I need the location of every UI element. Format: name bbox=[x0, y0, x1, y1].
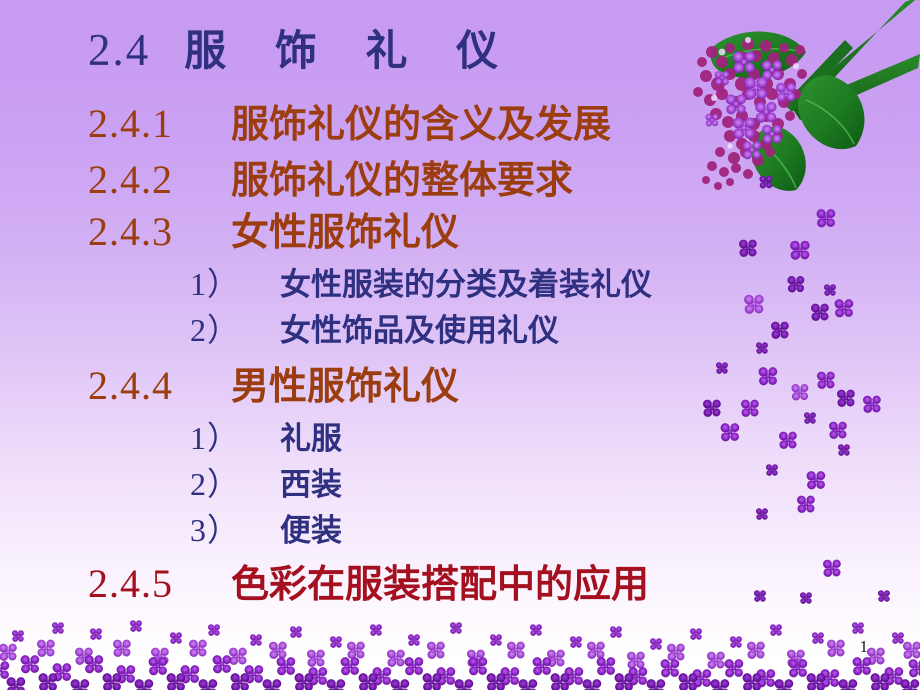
outline-label: 女性服装的分类及着装礼仪 bbox=[280, 267, 652, 303]
outline-item-2-4-4: 2.4.4男性服饰礼仪 bbox=[88, 366, 459, 406]
slide-canvas: 2.4服 饰 礼 仪 2.4.1服饰礼仪的含义及发展 2.4.2服饰礼仪的整体要… bbox=[0, 0, 920, 690]
outline-label: 服饰礼仪的整体要求 bbox=[231, 158, 573, 202]
outline-item-2-4-3: 2.4.3女性服饰礼仪 bbox=[88, 212, 459, 252]
slide-text-content: 2.4服 饰 礼 仪 2.4.1服饰礼仪的含义及发展 2.4.2服饰礼仪的整体要… bbox=[0, 0, 920, 690]
outline-item-2-4-2: 2.4.2服饰礼仪的整体要求 bbox=[88, 160, 573, 200]
outline-item-2-4-1: 2.4.1服饰礼仪的含义及发展 bbox=[88, 104, 611, 144]
outline-number: 2） bbox=[190, 312, 240, 348]
outline-subitem-2-4-3-1: 1）女性服装的分类及着装礼仪 bbox=[190, 268, 652, 301]
outline-label: 女性饰品及使用礼仪 bbox=[280, 313, 559, 349]
outline-number: 2） bbox=[190, 466, 240, 502]
outline-number: 3） bbox=[190, 512, 240, 548]
outline-number: 2.4.3 bbox=[88, 209, 173, 254]
page-number: 1 bbox=[860, 637, 869, 657]
outline-subitem-2-4-4-2: 2）西装 bbox=[190, 468, 342, 501]
outline-number: 2.4.1 bbox=[88, 101, 173, 146]
outline-label: 西装 bbox=[280, 467, 342, 503]
outline-subitem-2-4-3-2: 2）女性饰品及使用礼仪 bbox=[190, 314, 559, 347]
outline-label: 女性服饰礼仪 bbox=[231, 210, 459, 254]
outline-label: 便装 bbox=[280, 513, 342, 549]
outline-subitem-2-4-4-1: 1）礼服 bbox=[190, 422, 342, 455]
outline-label: 男性服饰礼仪 bbox=[231, 364, 459, 408]
slide-title-text: 服 饰 礼 仪 bbox=[184, 26, 515, 75]
outline-number: 2.4.2 bbox=[88, 157, 173, 202]
outline-label: 服饰礼仪的含义及发展 bbox=[231, 102, 611, 146]
slide-title: 2.4服 饰 礼 仪 bbox=[88, 28, 515, 73]
outline-item-2-4-5: 2.4.5色彩在服装搭配中的应用 bbox=[88, 564, 649, 604]
outline-subitem-2-4-4-3: 3）便装 bbox=[190, 514, 342, 547]
slide-title-number: 2.4 bbox=[88, 25, 150, 75]
outline-number: 2.4.4 bbox=[88, 363, 173, 408]
outline-number: 2.4.5 bbox=[88, 561, 173, 606]
outline-label: 色彩在服装搭配中的应用 bbox=[231, 562, 649, 606]
outline-number: 1） bbox=[190, 420, 240, 456]
outline-label: 礼服 bbox=[280, 421, 342, 457]
outline-number: 1） bbox=[190, 266, 240, 302]
